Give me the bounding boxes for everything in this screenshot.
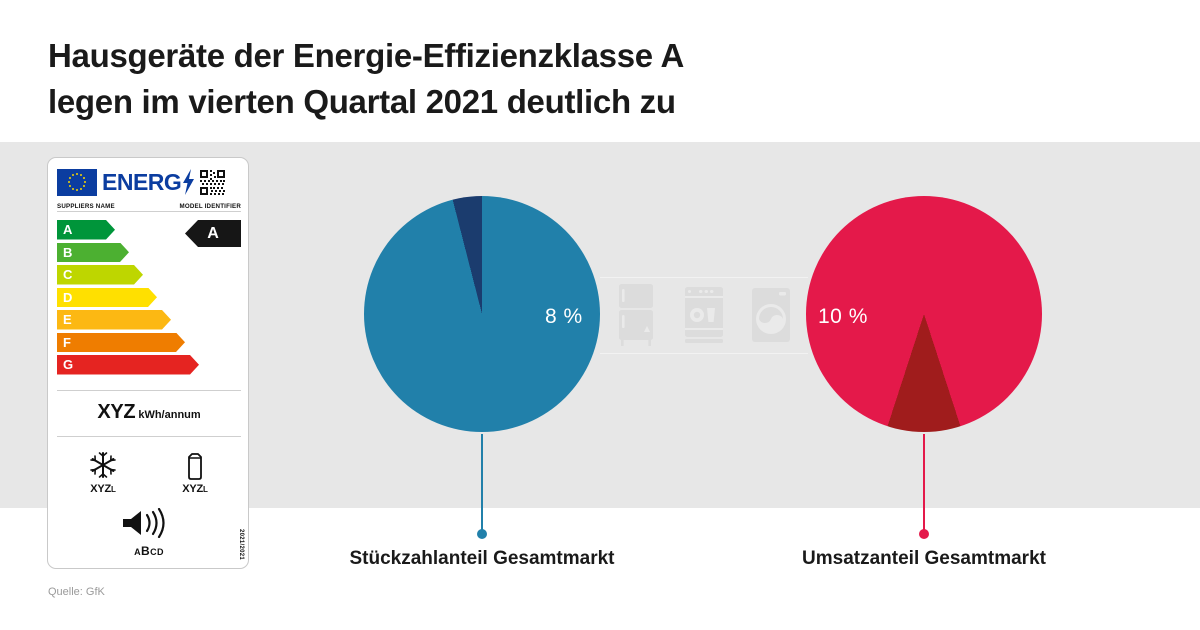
fridge-capacity: XYZL bbox=[159, 450, 231, 495]
divider-mid-2 bbox=[57, 436, 241, 437]
noise-class-a: A bbox=[134, 547, 141, 557]
fridge-value: XYZ bbox=[182, 483, 203, 495]
eu-star bbox=[76, 173, 79, 176]
eu-star bbox=[84, 181, 87, 184]
fridge-unit: L bbox=[203, 485, 208, 494]
eu-star bbox=[69, 185, 72, 188]
energy-label-header: ENERG bbox=[57, 167, 241, 197]
noise-class-b: B bbox=[141, 544, 150, 558]
eu-energy-label-card: ENERG bbox=[47, 157, 249, 569]
refrigerator-icon bbox=[614, 282, 660, 348]
efficiency-scale: A ABCDEFG bbox=[57, 220, 241, 378]
suppliers-name-label: SUPPLIERS NAME bbox=[57, 203, 115, 210]
grade-arrow-d: D bbox=[57, 288, 157, 308]
divider-top bbox=[57, 211, 241, 212]
pie-left-label: Stückzahlanteil Gesamtmarkt bbox=[282, 548, 682, 570]
eu-star bbox=[83, 185, 86, 188]
lightning-bolt-icon bbox=[182, 169, 195, 195]
grade-row-d: D bbox=[57, 288, 241, 308]
freezer-unit: L bbox=[111, 485, 116, 494]
grade-row-g: G bbox=[57, 355, 241, 375]
grade-arrow-b: B bbox=[57, 243, 129, 263]
grade-row-e: E bbox=[57, 310, 241, 330]
annual-consumption: XYZkWh/annum bbox=[57, 401, 241, 424]
consumption-unit: kWh/annum bbox=[138, 409, 200, 421]
noise-pictogram: ABCD bbox=[57, 508, 241, 558]
eu-star bbox=[68, 181, 71, 184]
grade-row-a: A bbox=[57, 220, 241, 240]
qr-code-icon bbox=[199, 169, 226, 196]
consumption-value: XYZ bbox=[97, 401, 135, 423]
eu-star bbox=[72, 188, 75, 191]
speaker-icon bbox=[121, 508, 177, 538]
eu-star bbox=[80, 188, 83, 191]
pie-left-connector bbox=[481, 434, 483, 532]
grade-arrow-e: E bbox=[57, 310, 171, 330]
regulation-code: 2021/2021 bbox=[238, 529, 244, 560]
pie-left-connector-dot bbox=[477, 529, 487, 539]
freezer-value: XYZ bbox=[90, 483, 111, 495]
eu-star bbox=[76, 189, 79, 192]
grade-arrow-f: F bbox=[57, 333, 185, 353]
freezer-capacity-label: XYZL bbox=[67, 483, 139, 495]
infographic-page: Hausgeräte der Energie-Effizienzklasse A… bbox=[0, 0, 1200, 630]
eu-flag-icon bbox=[57, 169, 97, 196]
headline-line-2: legen im vierten Quartal 2021 deutlich z… bbox=[48, 79, 1048, 125]
eu-star bbox=[69, 177, 72, 180]
energy-label-identifier-row: SUPPLIERS NAME MODEL IDENTIFIER bbox=[57, 203, 241, 210]
headline-line-1: Hausgeräte der Energie-Effizienzklasse A bbox=[48, 37, 684, 74]
grade-row-f: F bbox=[57, 333, 241, 353]
pie-right-connector-dot bbox=[919, 529, 929, 539]
eu-star bbox=[80, 174, 83, 177]
page-title: Hausgeräte der Energie-Effizienzklasse A… bbox=[48, 33, 1048, 124]
pie-right-connector bbox=[923, 434, 925, 532]
capacity-pictograms: XYZL XYZL bbox=[57, 450, 241, 495]
oven-icon bbox=[681, 285, 727, 345]
appliance-icon-strip bbox=[600, 271, 808, 359]
energy-label-wordmark: ENERG bbox=[102, 171, 181, 194]
snowflake-icon bbox=[88, 450, 118, 480]
grade-row-c: C bbox=[57, 265, 241, 285]
divider-mid-1 bbox=[57, 390, 241, 391]
noise-class-label: ABCD bbox=[57, 544, 241, 558]
grade-arrow-c: C bbox=[57, 265, 143, 285]
grade-row-b: B bbox=[57, 243, 241, 263]
source-note: Quelle: GfK bbox=[48, 586, 105, 598]
washing-machine-icon bbox=[748, 286, 794, 344]
freezer-capacity: XYZL bbox=[67, 450, 139, 495]
pie-left-percentage: 8 % bbox=[545, 305, 583, 329]
fridge-capacity-label: XYZL bbox=[159, 483, 231, 495]
model-identifier-label: MODEL IDENTIFIER bbox=[179, 203, 241, 210]
pie-right-label: Umsatzanteil Gesamtmarkt bbox=[724, 548, 1124, 570]
pie-right-percentage: 10 % bbox=[818, 305, 868, 329]
eu-star bbox=[72, 174, 75, 177]
pictogram-group: XYZL XYZL ABCD bbox=[57, 450, 241, 558]
noise-class-cd: CD bbox=[150, 547, 164, 557]
container-icon bbox=[184, 450, 206, 480]
grade-arrow-g: G bbox=[57, 355, 199, 375]
eu-star bbox=[83, 177, 86, 180]
grade-arrow-a: A bbox=[57, 220, 115, 240]
